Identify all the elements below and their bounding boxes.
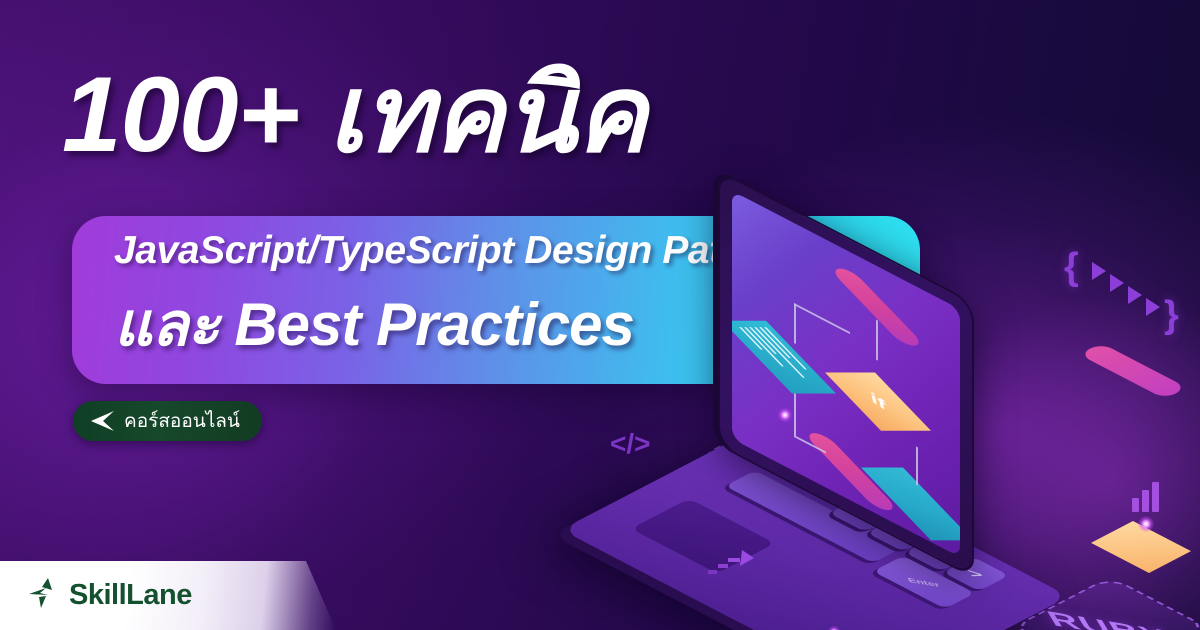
status-badge: คอร์สออนไลน์ [73,401,262,441]
send-arrow-icon [90,410,115,432]
deco-triangle-2 [1110,274,1124,292]
flowchart-arrow-6 [916,446,918,485]
flowchart-arrow-1 [876,320,878,361]
flowchart-node-condition-label: if [865,386,890,418]
glow-dot-3 [1138,516,1154,532]
status-badge-label: คอร์สออนไลน์ [124,406,240,436]
flowchart-arrow-2 [794,303,796,344]
deco-chart-bar-3 [1152,482,1159,512]
deco-triangle-4 [1146,298,1160,316]
deco-pill-pink [1079,343,1187,399]
flowchart-node-condition: if [825,373,931,431]
deco-chart-bar-2 [1142,490,1149,512]
laptop-key-enter-label: Enter [906,576,941,588]
deco-triangle-3 [1128,286,1142,304]
language-tag-ruby-label: RUBY [1042,606,1178,630]
flowchart-arrow-4 [794,393,796,436]
curly-brace-open-icon: { [1064,246,1079,289]
isometric-laptop-illustration: JS C++ PHP RUBY < 0 1 > [640,228,1200,630]
angle-bracket-icon: </> [610,428,650,460]
brand-logo-banner: SkillLane [0,561,336,630]
skilllane-mark-icon [26,576,60,615]
page-title: 100+ เทคนิค [62,58,646,171]
deco-chart-bar-1 [1132,498,1139,512]
deco-triangle-1 [1092,262,1106,280]
flowchart-node-code [732,321,836,394]
flowchart-arrow-3 [794,303,850,334]
glow-dot-1 [778,408,792,422]
deco-up-arrow-icon [702,546,758,597]
promo-banner-canvas: 100+ เทคนิค JavaScript/TypeScript Design… [0,0,1200,630]
brand-name: SkillLane [69,579,192,612]
curly-brace-close-icon: } [1164,294,1179,337]
